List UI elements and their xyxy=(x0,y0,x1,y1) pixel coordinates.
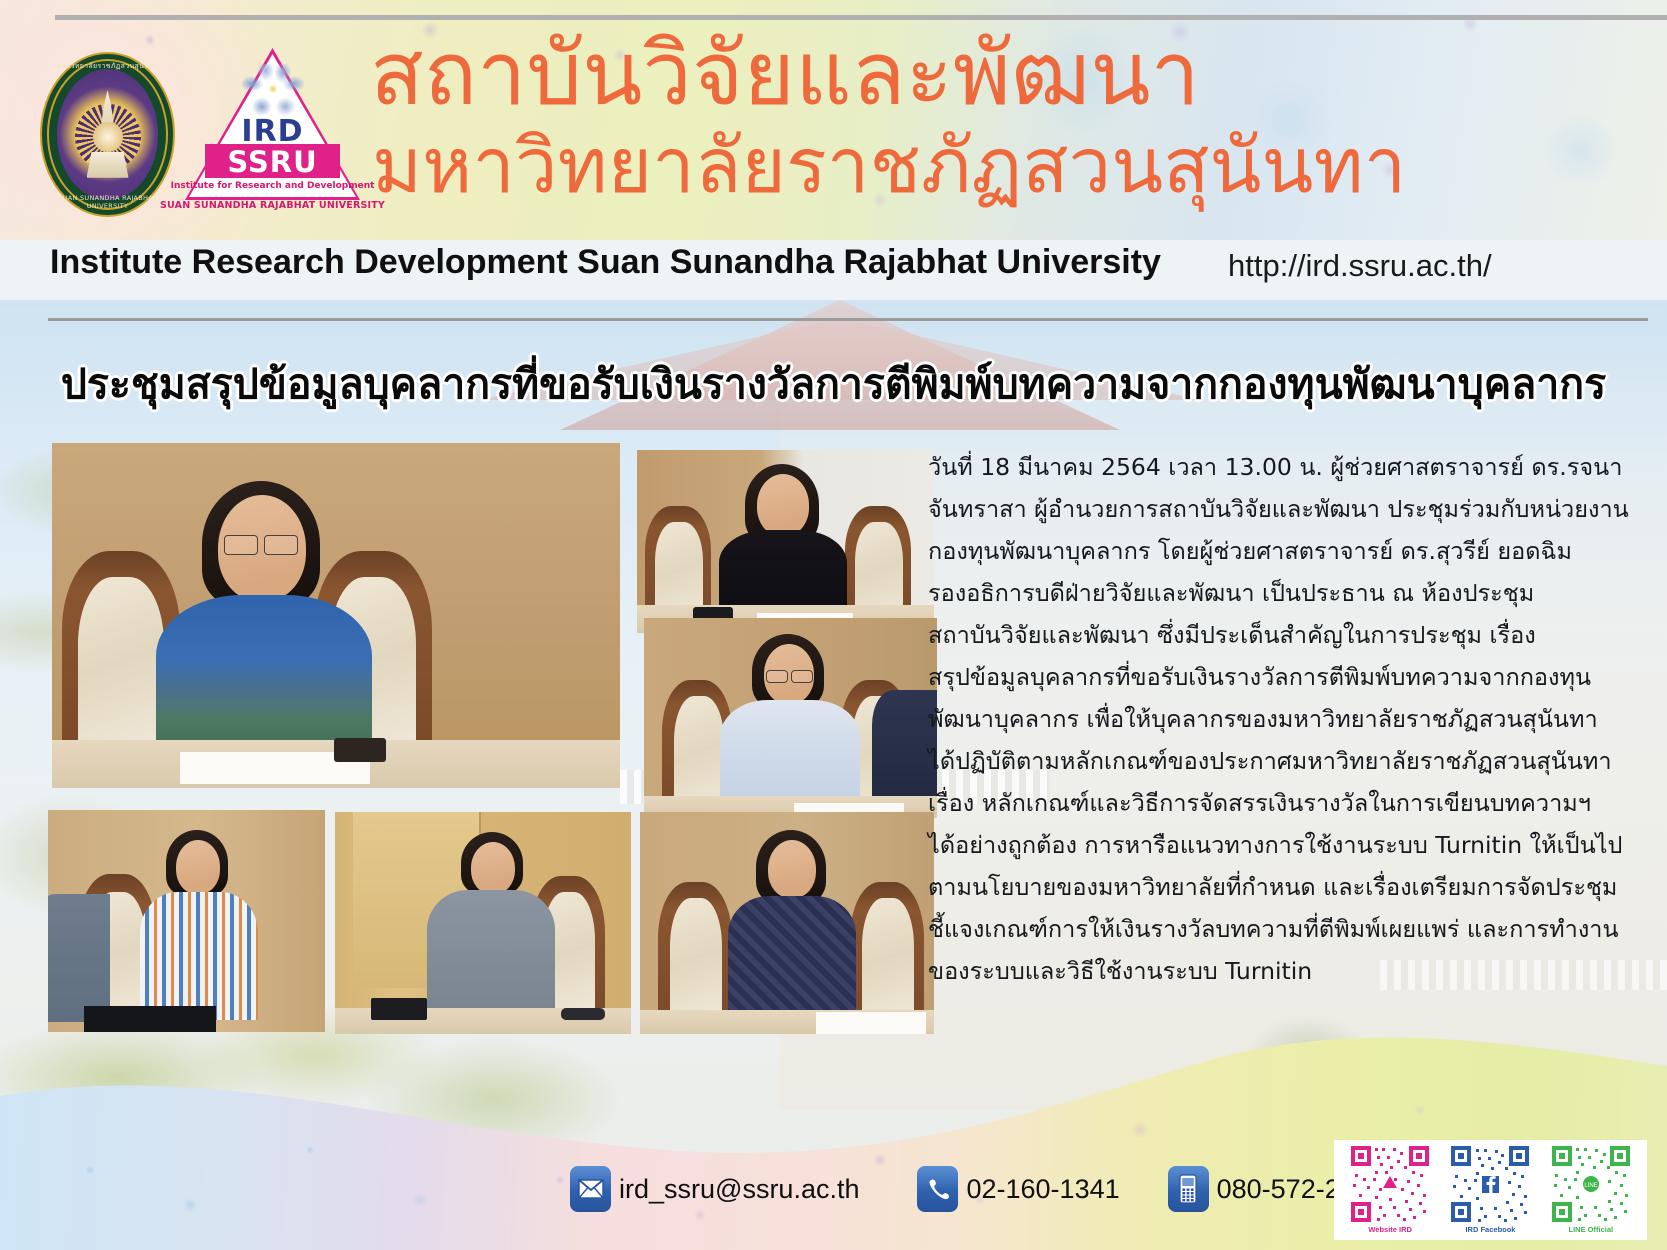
ird-logo-university: SUAN SUNANDHA RAJABHAT UNIVERSITY xyxy=(160,200,385,211)
qr-facebook-label: IRD Facebook xyxy=(1444,1225,1536,1234)
photo-staff-striped-shirt xyxy=(48,810,325,1032)
email-text: ird_ssru@ssru.ac.th xyxy=(619,1174,859,1205)
bottom-divider-rule xyxy=(48,318,1648,321)
svg-text:LINE: LINE xyxy=(1584,1183,1597,1189)
qr-code-line[interactable]: LINE LINE Official xyxy=(1545,1144,1637,1234)
english-title: Institute Research Development Suan Suna… xyxy=(50,243,1161,282)
thai-title-line-2: มหาวิทยาลัยราชภัฏสวนสุนันทา xyxy=(372,128,1406,204)
body-line: รองอธิการบดีฝ่ายวิจัยและพัฒนา เป็นประธาน… xyxy=(928,572,1644,614)
body-line: ได้อย่างถูกต้อง การหารือแนวทางการใช้งานร… xyxy=(928,824,1644,866)
article-body-text: วันที่ 18 มีนาคม 2564 เวลา 13.00 น. ผู้ช… xyxy=(928,446,1644,992)
photo-staff-black-blazer xyxy=(637,450,934,633)
phone-icon xyxy=(917,1166,958,1212)
body-line: ของระบบและวิธีใช้งานระบบ Turnitin xyxy=(928,950,1644,992)
body-line: สรุปข้อมูลบุคลากรที่ขอรับเงินรางวัลการตี… xyxy=(928,656,1644,698)
qr-code-panel: Website IRD xyxy=(1334,1140,1647,1240)
email-icon xyxy=(570,1166,611,1212)
phone-text: 02-160-1341 xyxy=(966,1174,1119,1205)
body-line: จันทราสา ผู้อำนวยการสถาบันวิจัยและพัฒนา … xyxy=(928,488,1644,530)
thai-title-line-1: สถาบันวิจัยและพัฒนา xyxy=(370,30,1200,118)
qr-line-label: LINE Official xyxy=(1545,1225,1637,1234)
body-line: กองทุนพัฒนาบุคลากร โดยผู้ช่วยศาสตราจารย์… xyxy=(928,530,1644,572)
body-line: ตามนโยบายของมหาวิทยาลัยที่กำหนด และเรื่อ… xyxy=(928,866,1644,908)
contact-email[interactable]: ird_ssru@ssru.ac.th xyxy=(570,1166,859,1212)
seal-top-text: มหาวิทยาลัยราชภัฏสวนสุนันทา xyxy=(40,61,175,72)
ird-logo-word: IRD xyxy=(241,114,303,149)
qr-code-facebook[interactable]: IRD Facebook xyxy=(1444,1144,1536,1234)
qr-line-icon: LINE xyxy=(1550,1144,1632,1224)
body-line: ชี้แจงเกณฑ์การให้เงินรางวัลบทความที่ตีพิ… xyxy=(928,908,1644,950)
photo-staff-floral-blouse xyxy=(644,618,937,818)
ird-logo-ssru: SSRU xyxy=(227,145,317,179)
body-line: ได้ปฏิบัติตามหลักเกณฑ์ของประกาศมหาวิทยาล… xyxy=(928,740,1644,782)
top-divider-rule xyxy=(55,15,1667,20)
seal-bottom-text: SUAN SUNANDHA RAJABHAT UNIVERSITY xyxy=(40,194,175,210)
qr-code-website[interactable]: Website IRD xyxy=(1344,1144,1436,1234)
page-title: ประชุมสรุปข้อมูลบุคลากรที่ขอรับเงินรางวั… xyxy=(0,352,1667,417)
flower-icon xyxy=(242,64,304,116)
website-url[interactable]: http://ird.ssru.ac.th/ xyxy=(1228,248,1492,284)
photo-director-main xyxy=(52,443,620,788)
mobile-phone-icon xyxy=(1168,1166,1209,1212)
contact-row: ird_ssru@ssru.ac.th 02-160-1341 xyxy=(570,1166,1385,1212)
qr-website-label: Website IRD xyxy=(1344,1225,1436,1234)
ird-logo-tagline: Institute for Research and Development xyxy=(171,181,375,191)
body-line: สถาบันวิจัยและพัฒนา ซึ่งมีประเด็นสำคัญใน… xyxy=(928,614,1644,656)
body-line: พัฒนาบุคลากร เพื่อให้บุคลากรของมหาวิทยาล… xyxy=(928,698,1644,740)
qr-facebook-icon xyxy=(1449,1144,1531,1224)
ird-triangle-logo: IRD SSRU Institute for Research and Deve… xyxy=(185,48,360,218)
contact-phone[interactable]: 02-160-1341 xyxy=(917,1166,1119,1212)
body-line: เรื่อง หลักเกณฑ์และวิธีการจัดสรรเงินรางว… xyxy=(928,782,1644,824)
university-seal-logo: มหาวิทยาลัยราชภัฏสวนสุนันทา SUAN SUNANDH… xyxy=(40,52,175,217)
body-line: วันที่ 18 มีนาคม 2564 เวลา 13.00 น. ผู้ช… xyxy=(928,446,1644,488)
poster-canvas: มหาวิทยาลัยราชภัฏสวนสุนันทา SUAN SUNANDH… xyxy=(0,0,1667,1250)
qr-website-icon xyxy=(1349,1144,1431,1224)
